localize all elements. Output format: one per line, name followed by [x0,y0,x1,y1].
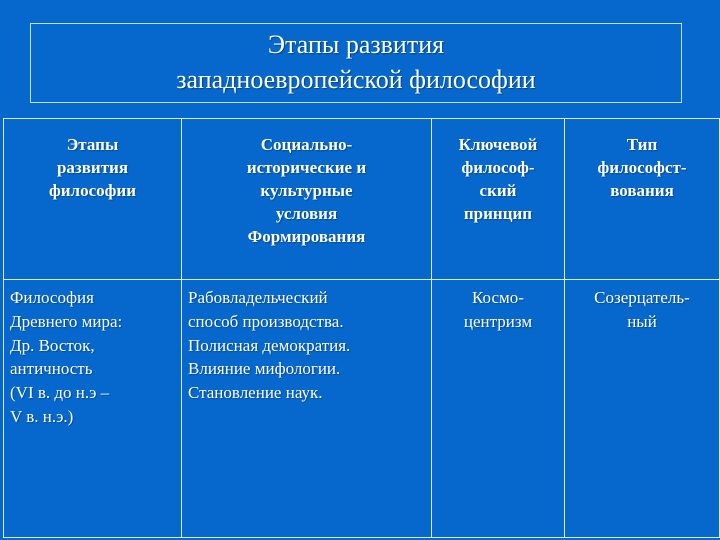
cell-type-text: Созерцатель- ный [571,286,713,334]
cell-stage-text: Философия Древнего мира: Др. Восток, ант… [10,286,175,429]
column-header-conditions: Социально- исторические и культурные усл… [182,119,432,280]
table-header: Этапы развития философии Социально- исто… [4,119,720,280]
column-header-type: Тип философст- вования [565,119,720,280]
page-title: Этапы развития западноевропейской филосо… [170,28,541,97]
table-row: Философия Древнего мира: Др. Восток, ант… [4,280,720,538]
column-header-type-label: Тип философст- вования [571,125,713,202]
cell-principle: Космо- центризм [432,280,565,538]
title-box: Этапы развития западноевропейской филосо… [30,23,682,103]
cell-conditions: Рабовладельческий способ производства. П… [182,280,432,538]
table-body: Философия Древнего мира: Др. Восток, ант… [4,280,720,538]
column-header-principle: Ключевой философ- ский принцип [432,119,565,280]
cell-type: Созерцатель- ный [565,280,720,538]
table-header-row: Этапы развития философии Социально- исто… [4,119,720,280]
philosophy-stages-table: Этапы развития философии Социально- исто… [3,118,720,538]
column-header-stages: Этапы развития философии [4,119,182,280]
cell-conditions-text: Рабовладельческий способ производства. П… [188,286,425,405]
column-header-conditions-label: Социально- исторические и культурные усл… [188,125,425,249]
column-header-stages-label: Этапы развития философии [10,125,175,202]
cell-stage: Философия Древнего мира: Др. Восток, ант… [4,280,182,538]
cell-principle-text: Космо- центризм [438,286,558,334]
column-header-principle-label: Ключевой философ- ский принцип [438,125,558,225]
